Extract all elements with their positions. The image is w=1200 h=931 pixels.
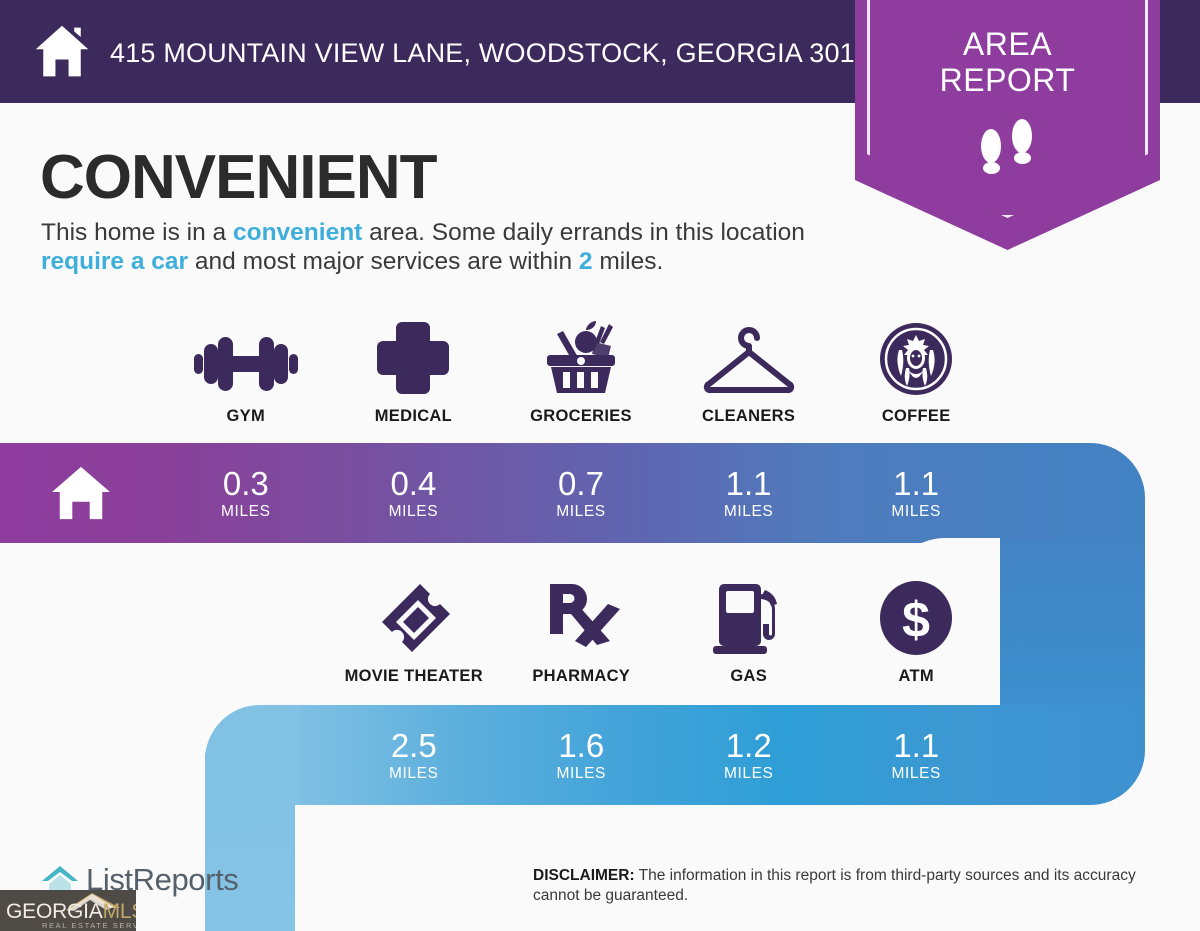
distance-unit: MILES	[891, 765, 941, 783]
distance-cell-gas: 1.2 MILES	[665, 705, 833, 805]
disclaimer: DISCLAIMER: The information in this repo…	[533, 866, 1173, 906]
page-title: CONVENIENT	[40, 143, 436, 213]
grocery-basket-icon	[539, 320, 623, 396]
gas-pump-icon	[709, 580, 789, 656]
banner-title: AREA REPORT	[855, 26, 1160, 98]
distance-unit: MILES	[221, 503, 271, 521]
movie-ticket-icon	[372, 580, 456, 656]
gamls-tagline: REAL ESTATE SERVICES	[42, 921, 136, 930]
distance-cell-movie-theater: 2.5 MILES	[330, 705, 498, 805]
starbucks-siren-icon	[879, 320, 953, 396]
distance-value: 1.1	[893, 728, 939, 763]
gamls-name-secondary: MLS	[103, 900, 136, 923]
home-icon	[50, 465, 112, 521]
distance-cell-cleaners: 1.1 MILES	[665, 443, 833, 543]
distance-cell-medical: 0.4 MILES	[330, 443, 498, 543]
amenity-label: MEDICAL	[375, 407, 452, 426]
dumbbell-icon	[192, 320, 300, 396]
disclaimer-label: DISCLAIMER:	[533, 867, 635, 884]
amenity-label: GAS	[730, 667, 767, 686]
description-highlight-3: 2	[579, 248, 593, 275]
amenity-medical: MEDICAL	[330, 320, 498, 426]
distance-row-2: 2.5 MILES 1.6 MILES 1.2 MILES 1.1 MILES	[330, 705, 1000, 805]
amenity-label: COFFEE	[882, 407, 951, 426]
distance-cell-coffee: 1.1 MILES	[832, 443, 1000, 543]
distance-unit: MILES	[556, 503, 606, 521]
distance-value: 1.1	[893, 466, 939, 501]
distance-value: 0.4	[390, 466, 436, 501]
hanger-icon	[699, 320, 799, 396]
banner-title-line1: AREA	[855, 26, 1160, 62]
amenity-icon-row-1: GYM MEDICAL	[162, 320, 1000, 426]
distance-value: 1.6	[558, 728, 604, 763]
distance-cell-atm: 1.1 MILES	[833, 705, 1001, 805]
page-description: This home is in a convenient area. Some …	[41, 218, 851, 276]
home-icon	[32, 22, 92, 82]
footprints-icon	[970, 116, 1046, 192]
distance-unit: MILES	[724, 503, 774, 521]
description-highlight-1: convenient	[233, 219, 362, 246]
description-part-2: area. Some daily errands in this locatio…	[362, 219, 805, 246]
amenity-coffee: COFFEE	[832, 320, 1000, 426]
distance-cell-groceries: 0.7 MILES	[497, 443, 665, 543]
amenity-groceries: GROCERIES	[497, 320, 665, 426]
distance-unit: MILES	[389, 765, 439, 783]
distance-value: 2.5	[391, 728, 437, 763]
amenity-gym: GYM	[162, 320, 330, 426]
medical-cross-icon	[375, 320, 451, 396]
description-highlight-2: require a car	[41, 248, 188, 275]
distance-value: 1.2	[726, 728, 772, 763]
gamls-name-primary: GEORGIA	[6, 900, 103, 923]
amenity-label: PHARMACY	[532, 667, 630, 686]
description-part-3: and most major services are within	[188, 248, 579, 275]
description-part-1: This home is in a	[41, 219, 233, 246]
georgia-mls-logo[interactable]: GEORGIAMLS REAL ESTATE SERVICES	[0, 890, 136, 931]
distance-unit: MILES	[891, 503, 941, 521]
distance-unit: MILES	[724, 765, 774, 783]
distance-value: 0.3	[223, 466, 269, 501]
amenity-label: GROCERIES	[530, 407, 632, 426]
amenity-label: CLEANERS	[702, 407, 795, 426]
dollar-circle-icon: $	[878, 580, 954, 656]
amenity-atm: $ ATM	[833, 580, 1001, 686]
area-report-banner: AREA REPORT	[855, 0, 1160, 250]
distance-value: 0.7	[558, 466, 604, 501]
amenity-label: GYM	[227, 407, 265, 426]
area-report-page: 415 MOUNTAIN VIEW LANE, WOODSTOCK, GEORG…	[0, 0, 1200, 931]
distance-cell-gym: 0.3 MILES	[162, 443, 330, 543]
distance-unit: MILES	[389, 503, 439, 521]
amenity-label: ATM	[899, 667, 934, 686]
amenity-icon-row-2: MOVIE THEATER PHARMACY	[330, 580, 1000, 686]
distance-value: 1.1	[726, 466, 772, 501]
svg-text:$: $	[902, 592, 930, 648]
distance-row-1: 0.3 MILES 0.4 MILES 0.7 MILES 1.1 MILES …	[162, 443, 1000, 543]
home-origin-cell	[0, 443, 162, 543]
banner-title-line2: REPORT	[855, 62, 1160, 98]
amenity-cleaners: CLEANERS	[665, 320, 833, 426]
rx-icon	[542, 580, 620, 656]
description-part-4: miles.	[593, 248, 664, 275]
amenity-pharmacy: PHARMACY	[498, 580, 666, 686]
property-address: 415 MOUNTAIN VIEW LANE, WOODSTOCK, GEORG…	[110, 38, 885, 69]
amenity-label: MOVIE THEATER	[345, 667, 483, 686]
distance-unit: MILES	[556, 765, 606, 783]
distance-cell-pharmacy: 1.6 MILES	[498, 705, 666, 805]
amenity-movie-theater: MOVIE THEATER	[330, 580, 498, 686]
amenity-gas: GAS	[665, 580, 833, 686]
